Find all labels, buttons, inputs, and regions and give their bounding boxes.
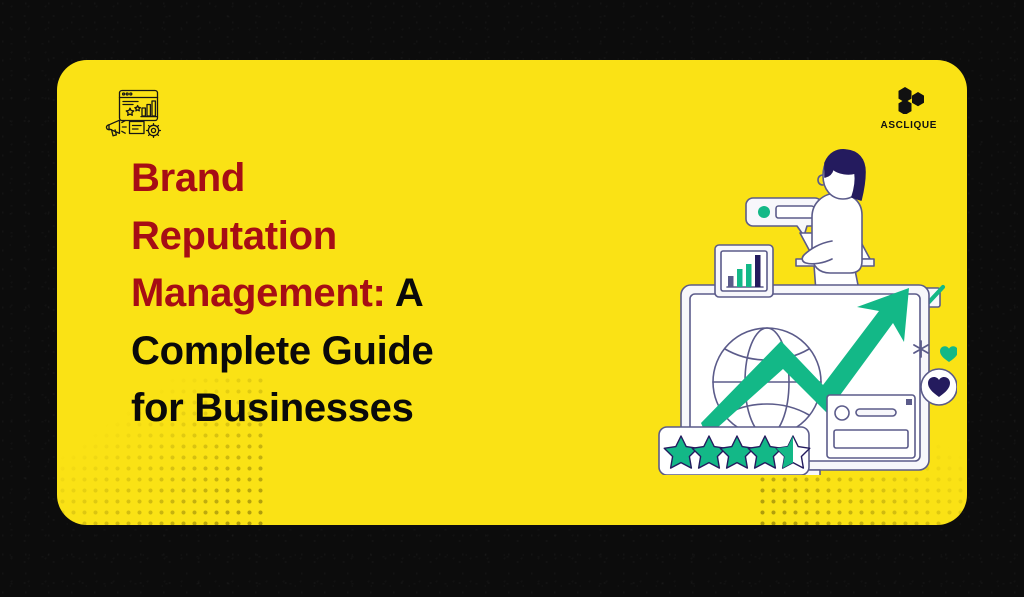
profile-card [827,395,915,458]
screenshot-stage: ASCLIQUE Brand Reputation Management: A … [0,0,1024,597]
small-heart-icon [940,346,957,362]
banner-card: ASCLIQUE Brand Reputation Management: A … [57,60,967,525]
title-line-3-accent: Management: [131,271,386,315]
title-line-1: Brand [131,156,245,200]
title-line-5: for Businesses [131,386,414,430]
hexagon-cluster-icon [892,86,926,114]
brand-logo: ASCLIQUE [881,86,937,131]
brand-monitoring-icon [105,88,163,145]
heart-badge-icon [921,369,957,405]
title-line-4: Complete Guide [131,329,434,373]
logo-text: ASCLIQUE [881,120,937,131]
title-line-2: Reputation [131,214,337,258]
bar-chart-panel [715,245,773,297]
chat-bubble [746,198,822,236]
title-line-3-rest: A [395,271,424,315]
page-title: Brand Reputation Management: A Complete … [131,150,591,438]
brand-reputation-growth-illustration [657,145,957,480]
star-rating-bar [659,427,810,475]
